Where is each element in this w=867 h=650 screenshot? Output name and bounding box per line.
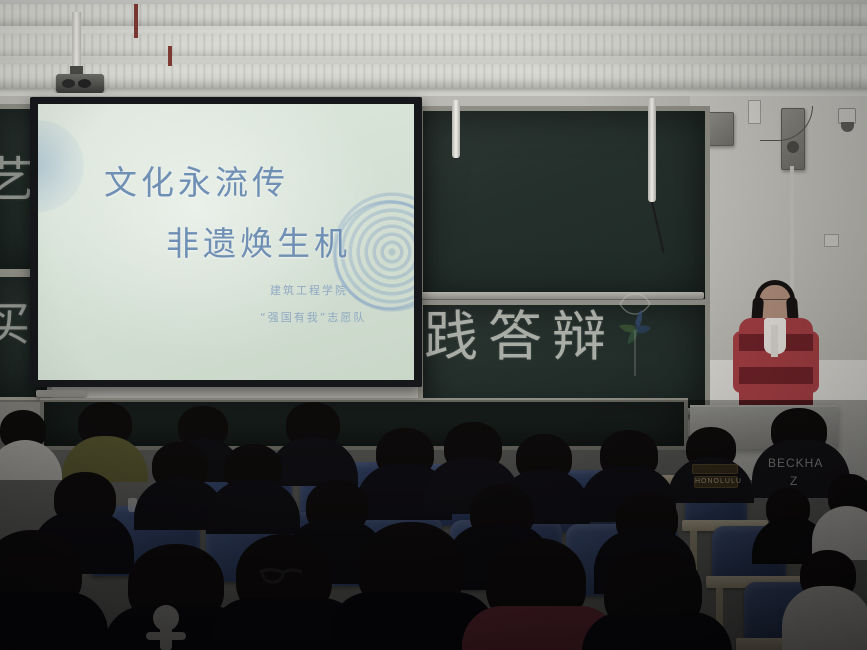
red-pipe-lower bbox=[168, 46, 172, 66]
slide-subtitle-line-2: “强国有我”志愿队 bbox=[260, 309, 366, 325]
skull-graphic-icon bbox=[124, 600, 208, 650]
student-torso bbox=[582, 612, 732, 650]
red-pipe-upper bbox=[134, 4, 138, 38]
eyeglasses-icon bbox=[258, 564, 320, 588]
chalk-text-left-upper: 艺 bbox=[0, 140, 34, 210]
chalk-tray-left-lower bbox=[36, 390, 86, 397]
wall-outlet-icon bbox=[824, 234, 839, 247]
shirt-badge-upper bbox=[692, 464, 738, 474]
chalk-text-left-lower: 买 bbox=[0, 288, 30, 354]
presenter-glasses-icon bbox=[761, 299, 789, 307]
shirt-text-honolulu: HONOLULU bbox=[694, 476, 738, 488]
ventilation-duct-upper bbox=[0, 4, 867, 28]
surveillance-camera-icon bbox=[838, 108, 856, 124]
student-torso-white bbox=[782, 586, 867, 650]
projector-icon bbox=[56, 74, 104, 93]
ceiling bbox=[0, 0, 867, 100]
blackboard-hanging-rod-left bbox=[452, 100, 460, 158]
classroom-scene-photo: 艺 买 践答辩 文化永流传 非遗焕生机 建筑工程学院 “强国有我”志愿队 bbox=[0, 0, 867, 650]
ventilation-duct-lower bbox=[0, 64, 867, 88]
slide-title-line-2: 非遗焕生机 bbox=[166, 217, 351, 265]
slide-title-line-1: 文化永流传 bbox=[104, 156, 289, 204]
chalk-text-main: 践答辩 bbox=[424, 292, 616, 371]
wall-speaker-left-icon bbox=[707, 112, 734, 146]
slide-subtitle-line-1: 建筑工程学院 bbox=[270, 282, 348, 298]
student-torso bbox=[0, 592, 108, 650]
audience-area: HONOLULU BECKHA Z bbox=[0, 400, 867, 650]
presenter bbox=[733, 285, 819, 407]
presenter-placket bbox=[771, 325, 778, 357]
blackboard-hanging-rod-right bbox=[648, 98, 656, 202]
shirt-text-secondary: Z bbox=[790, 474, 798, 488]
chalk-flower-drawing bbox=[612, 290, 658, 376]
projection-screen: 文化永流传 非遗焕生机 建筑工程学院 “强国有我”志愿队 bbox=[38, 104, 414, 380]
shirt-text-beckham: BECKHA bbox=[768, 456, 823, 470]
blackboard-right-upper bbox=[418, 106, 710, 304]
student-torso bbox=[0, 440, 62, 480]
